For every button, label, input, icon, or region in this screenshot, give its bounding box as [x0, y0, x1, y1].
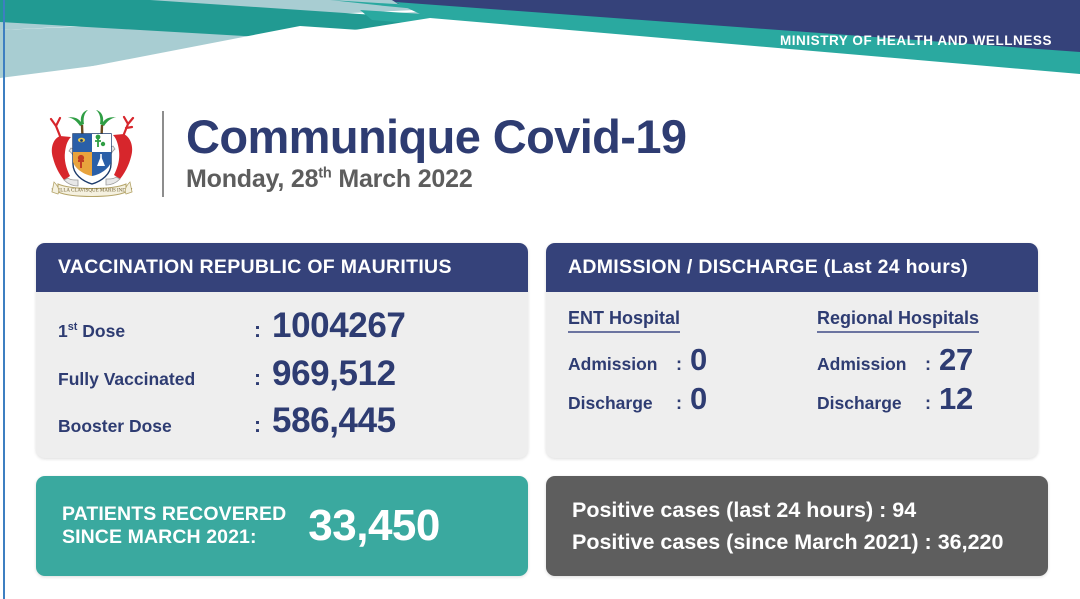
hospital-stat-colon: : — [925, 393, 939, 414]
left-edge-accent-rule — [3, 0, 5, 599]
patients-recovered-label: PATIENTS RECOVERED SINCE MARCH 2021: — [62, 503, 286, 550]
patients-recovered-card: PATIENTS RECOVERED SINCE MARCH 2021: 33,… — [36, 476, 528, 577]
vaccination-card-heading: VACCINATION REPUBLIC OF MAURITIUS — [36, 243, 528, 292]
ministry-label: MINISTRY OF HEALTH AND WELLNESS — [780, 33, 1052, 48]
hospital-stat-colon: : — [925, 354, 939, 375]
vaccination-row-label: Booster Dose — [58, 416, 254, 437]
stats-row-bottom: PATIENTS RECOVERED SINCE MARCH 2021: 33,… — [36, 476, 1048, 577]
patients-recovered-value: 33,450 — [308, 504, 440, 548]
hospital-column-ent: ENT Hospital Admission : 0 Discharge : 0 — [568, 308, 793, 419]
vaccination-row-value: 969,512 — [272, 354, 396, 395]
vaccination-row-label-sup: st — [68, 321, 78, 333]
vaccination-row-value: 1004267 — [272, 306, 405, 347]
admission-discharge-card: ADMISSION / DISCHARGE (Last 24 hours) EN… — [546, 243, 1038, 458]
hospital-stat-row: Admission : 0 — [568, 342, 793, 379]
positive-cases-last-24-hours: Positive cases (last 24 hours) : 94 — [572, 494, 1026, 526]
hospital-stat-row: Discharge : 0 — [568, 381, 793, 418]
hospital-stat-value: 0 — [690, 381, 707, 418]
title-divider — [162, 111, 164, 197]
patients-recovered-label-line1: PATIENTS RECOVERED — [62, 503, 286, 526]
title-row: STELLA CLAVISQUE MARIS INDICI Communique… — [40, 96, 686, 212]
hospital-stat-key: Discharge — [817, 393, 925, 414]
hospital-column-title: ENT Hospital — [568, 308, 680, 333]
hospital-column-title: Regional Hospitals — [817, 308, 979, 333]
vaccination-row-label-text: Booster Dose — [58, 416, 172, 436]
vaccination-row-label-rest: Dose — [77, 321, 125, 341]
vaccination-row-value: 586,445 — [272, 401, 396, 442]
hospital-stat-colon: : — [676, 393, 690, 414]
positive-cases-since-march-2021: Positive cases (since March 2021) : 36,2… — [572, 526, 1026, 558]
title-block: Communique Covid-19 Monday, 28th March 2… — [186, 112, 686, 197]
vaccination-row-colon: : — [254, 414, 272, 438]
vaccination-row-label: 1st Dose — [58, 321, 254, 342]
positive-cases-card: Positive cases (last 24 hours) : 94 Posi… — [546, 476, 1048, 577]
header-banner — [0, 0, 1080, 96]
vaccination-row-colon: : — [254, 319, 272, 343]
vaccination-row-label: Fully Vaccinated — [58, 369, 254, 390]
stats-grid: VACCINATION REPUBLIC OF MAURITIUS 1st Do… — [36, 243, 1048, 576]
page-date-weekday: Monday, 28 — [186, 165, 318, 193]
hospital-stat-key: Discharge — [568, 393, 676, 414]
hospital-stat-key: Admission — [817, 354, 925, 375]
hospital-column-regional: Regional Hospitals Admission : 27 Discha… — [793, 308, 1018, 419]
vaccination-card: VACCINATION REPUBLIC OF MAURITIUS 1st Do… — [36, 243, 528, 458]
hospital-stat-value: 27 — [939, 342, 973, 379]
page-date-ordinal: th — [318, 166, 331, 182]
vaccination-row: 1st Dose : 1004267 — [58, 306, 508, 347]
hospital-stat-value: 12 — [939, 381, 973, 418]
vaccination-row: Booster Dose : 586,445 — [58, 401, 508, 442]
admission-discharge-card-heading: ADMISSION / DISCHARGE (Last 24 hours) — [546, 243, 1038, 292]
vaccination-row-label-text: Fully Vaccinated — [58, 369, 195, 389]
hospital-stat-row: Admission : 27 — [817, 342, 1018, 379]
admission-discharge-card-body: ENT Hospital Admission : 0 Discharge : 0 — [546, 292, 1038, 435]
page-date-rest: March 2022 — [332, 165, 473, 193]
stats-row-top: VACCINATION REPUBLIC OF MAURITIUS 1st Do… — [36, 243, 1048, 458]
patients-recovered-label-line2: SINCE MARCH 2021: — [62, 526, 286, 549]
page-date: Monday, 28th March 2022 — [186, 165, 686, 194]
vaccination-row: Fully Vaccinated : 969,512 — [58, 354, 508, 395]
hospital-stat-value: 0 — [690, 342, 707, 379]
mauritius-coat-of-arms-icon: STELLA CLAVISQUE MARIS INDICI — [40, 102, 144, 206]
vaccination-row-colon: : — [254, 367, 272, 391]
svg-text:STELLA CLAVISQUE MARIS INDICI: STELLA CLAVISQUE MARIS INDICI — [51, 189, 132, 194]
hospital-columns: ENT Hospital Admission : 0 Discharge : 0 — [568, 306, 1018, 419]
hospital-stat-key: Admission — [568, 354, 676, 375]
hospital-stat-row: Discharge : 12 — [817, 381, 1018, 418]
page-title: Communique Covid-19 — [186, 112, 686, 162]
vaccination-row-label-text: 1 — [58, 321, 68, 341]
hospital-stat-colon: : — [676, 354, 690, 375]
vaccination-card-body: 1st Dose : 1004267 Fully Vaccinated : 96… — [36, 292, 528, 458]
